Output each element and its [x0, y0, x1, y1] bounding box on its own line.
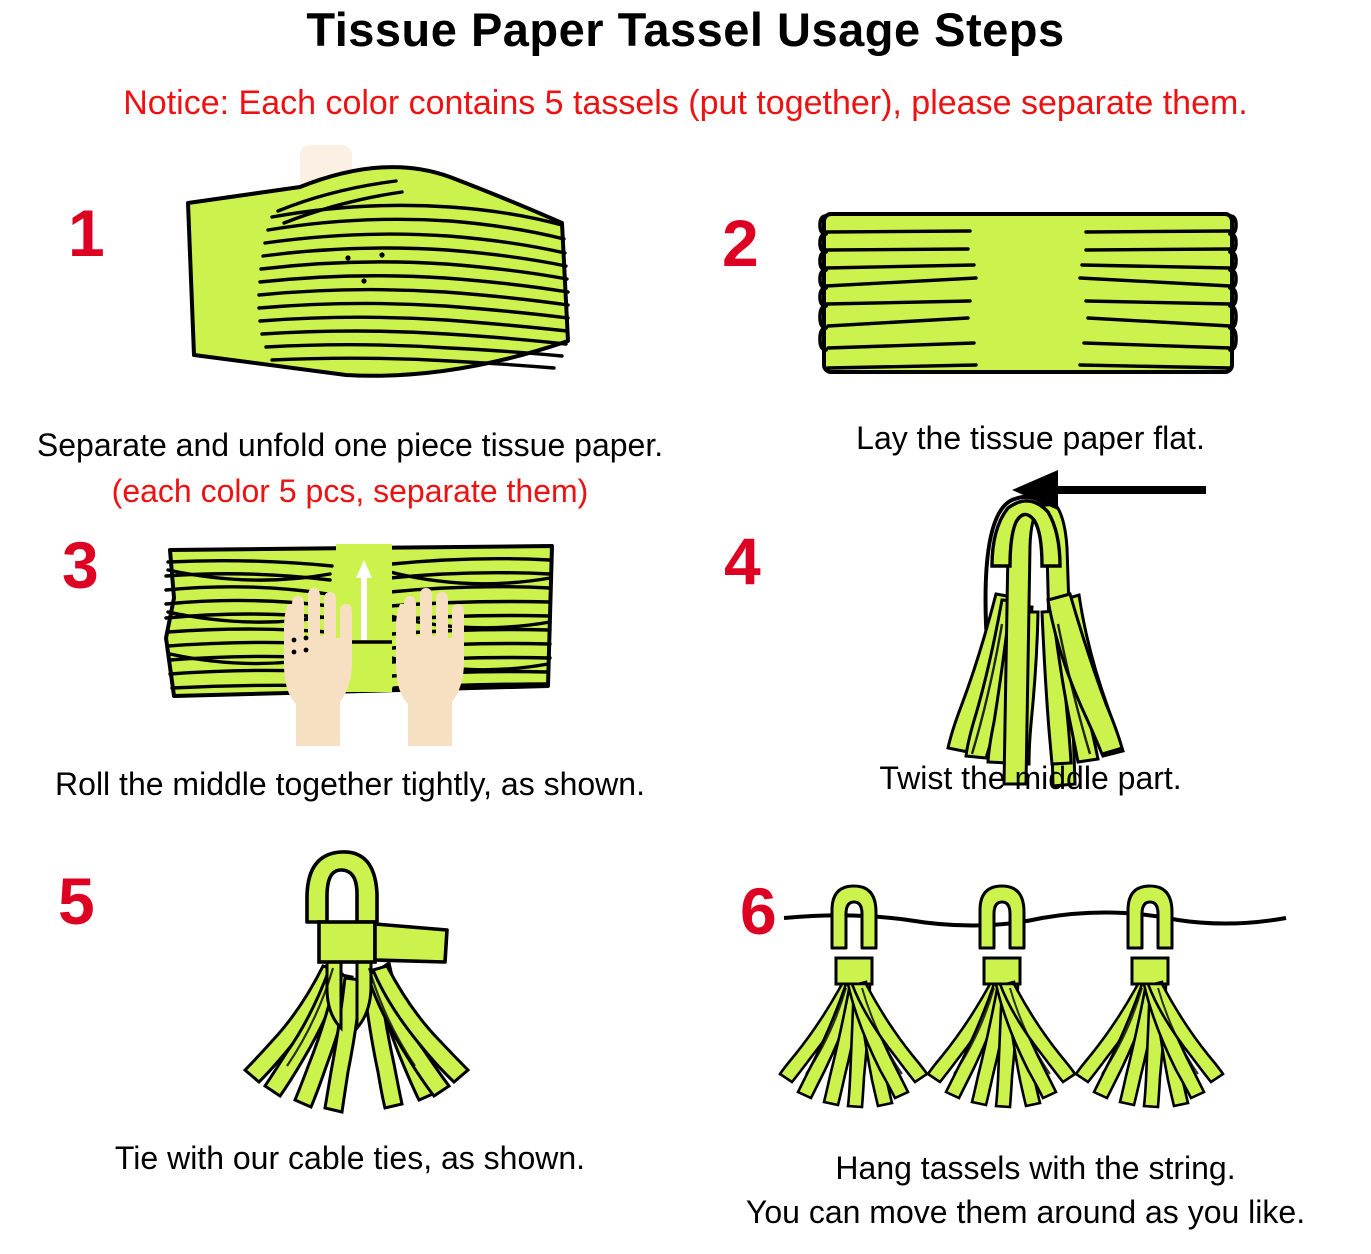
step-1: 1 [0, 140, 700, 530]
step-number-2: 2 [722, 210, 759, 276]
step-4-caption-line1: Twist the middle part. [690, 760, 1371, 798]
illustration-tassels-on-string [780, 884, 1290, 1154]
page-title: Tissue Paper Tassel Usage Steps [0, 2, 1371, 57]
step-3-caption-line1: Roll the middle together tightly, as sho… [0, 766, 700, 804]
step-6-caption-line2: You can move them around as you like. [680, 1194, 1371, 1232]
illustration-unfolded-tissue-paper [150, 145, 590, 405]
step-3: 3 [0, 520, 700, 820]
illustration-folded-tassel [890, 474, 1150, 764]
step-5-caption-line1: Tie with our cable ties, as shown. [0, 1140, 700, 1178]
step-4: 4 [690, 460, 1371, 810]
illustration-tassel-with-cable-tie [215, 838, 505, 1123]
step-2: 2 [690, 180, 1371, 480]
step-6: 6 [700, 860, 1371, 1250]
step-6-caption-line1: Hang tassels with the string. [700, 1150, 1371, 1188]
notice-text: Notice: Each color contains 5 tassels (p… [0, 84, 1371, 123]
step-number-6: 6 [740, 878, 777, 944]
step-number-4: 4 [724, 528, 761, 594]
pointer-arrow-icon [1010, 466, 1210, 516]
illustration-rolling-middle [160, 538, 560, 768]
step-number-1: 1 [68, 200, 105, 266]
step-5: 5 [0, 830, 700, 1170]
instruction-sheet: Tissue Paper Tassel Usage Steps Notice: … [0, 0, 1371, 1254]
step-1-caption-line1: Separate and unfold one piece tissue pap… [0, 427, 700, 465]
illustration-flat-fringed-stack [818, 208, 1238, 378]
step-number-3: 3 [62, 532, 99, 598]
step-number-5: 5 [58, 868, 95, 934]
step-1-caption-line2: (each color 5 pcs, separate them) [0, 473, 700, 511]
step-2-caption-line1: Lay the tissue paper flat. [690, 420, 1371, 458]
